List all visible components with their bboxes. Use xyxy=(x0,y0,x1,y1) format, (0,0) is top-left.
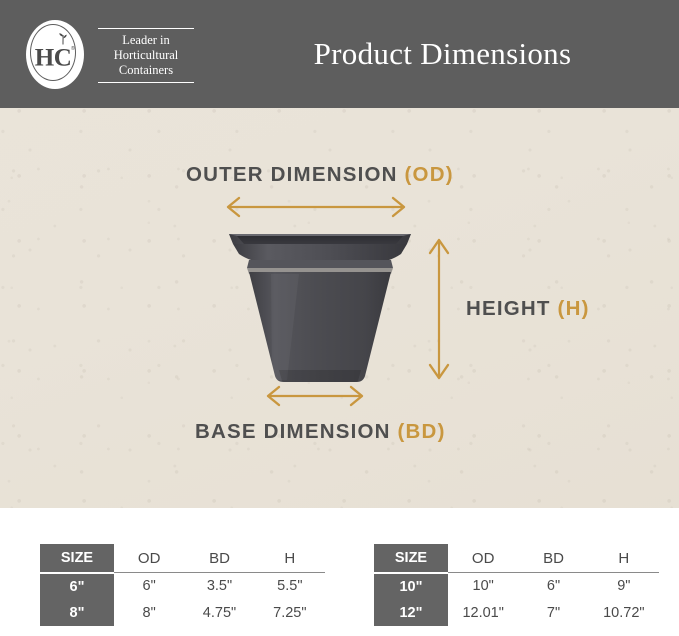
height-label: HEIGHT (H) xyxy=(466,297,590,321)
height-arrow xyxy=(428,234,450,384)
cell-od: 6" xyxy=(114,573,184,600)
base-dimension-label: BASE DIMENSION (BD) xyxy=(195,420,446,444)
column-header-size: SIZE xyxy=(40,544,114,573)
dimensions-table-small: SIZE OD BD H 6" 6" 3.5" 5.5" 8" 8" 4.75"… xyxy=(40,544,325,626)
table-header-row: SIZE OD BD H xyxy=(374,544,659,573)
base-dimension-text: BASE DIMENSION xyxy=(195,420,398,443)
cell-bd: 3.5" xyxy=(184,573,254,600)
height-text: HEIGHT xyxy=(466,297,558,320)
column-header-h: H xyxy=(589,544,659,573)
cell-size: 10" xyxy=(374,573,448,600)
cell-size: 12" xyxy=(374,600,448,626)
cell-bd: 6" xyxy=(518,573,588,600)
table: SIZE OD BD H 10" 10" 6" 9" 12" 12.01" 7"… xyxy=(374,544,659,626)
cell-size: 6" xyxy=(40,573,114,600)
cell-h: 7.25" xyxy=(255,600,325,626)
table-header-row: SIZE OD BD H xyxy=(40,544,325,573)
cell-h: 9" xyxy=(589,573,659,600)
dimensions-table-large: SIZE OD BD H 10" 10" 6" 9" 12" 12.01" 7"… xyxy=(374,544,659,626)
cell-bd: 7" xyxy=(518,600,588,626)
table-row: 6" 6" 3.5" 5.5" xyxy=(40,573,325,600)
cell-od: 10" xyxy=(448,573,518,600)
page-header: HC ® Leader in Horticultural Containers … xyxy=(0,0,679,109)
cell-od: 12.01" xyxy=(448,600,518,626)
page-title: Product Dimensions xyxy=(0,36,679,72)
table: SIZE OD BD H 6" 6" 3.5" 5.5" 8" 8" 4.75"… xyxy=(40,544,325,626)
table-row: 10" 10" 6" 9" xyxy=(374,573,659,600)
outer-dimension-arrow xyxy=(222,196,410,218)
cell-h: 10.72" xyxy=(589,600,659,626)
outer-dimension-abbr: (OD) xyxy=(405,163,454,186)
outer-dimension-label: OUTER DIMENSION (OD) xyxy=(186,163,454,187)
column-header-bd: BD xyxy=(184,544,254,573)
column-header-od: OD xyxy=(448,544,518,573)
cell-bd: 4.75" xyxy=(184,600,254,626)
table-row: 12" 12.01" 7" 10.72" xyxy=(374,600,659,626)
base-dimension-abbr: (BD) xyxy=(398,420,446,443)
table-row: 8" 8" 4.75" 7.25" xyxy=(40,600,325,626)
planter-pot-illustration xyxy=(225,230,415,382)
column-header-od: OD xyxy=(114,544,184,573)
height-abbr: (H) xyxy=(558,297,590,320)
column-header-size: SIZE xyxy=(374,544,448,573)
column-header-h: H xyxy=(255,544,325,573)
outer-dimension-text: OUTER DIMENSION xyxy=(186,163,405,186)
cell-size: 8" xyxy=(40,600,114,626)
cell-h: 5.5" xyxy=(255,573,325,600)
cell-od: 8" xyxy=(114,600,184,626)
base-dimension-arrow xyxy=(262,385,368,407)
column-header-bd: BD xyxy=(518,544,588,573)
